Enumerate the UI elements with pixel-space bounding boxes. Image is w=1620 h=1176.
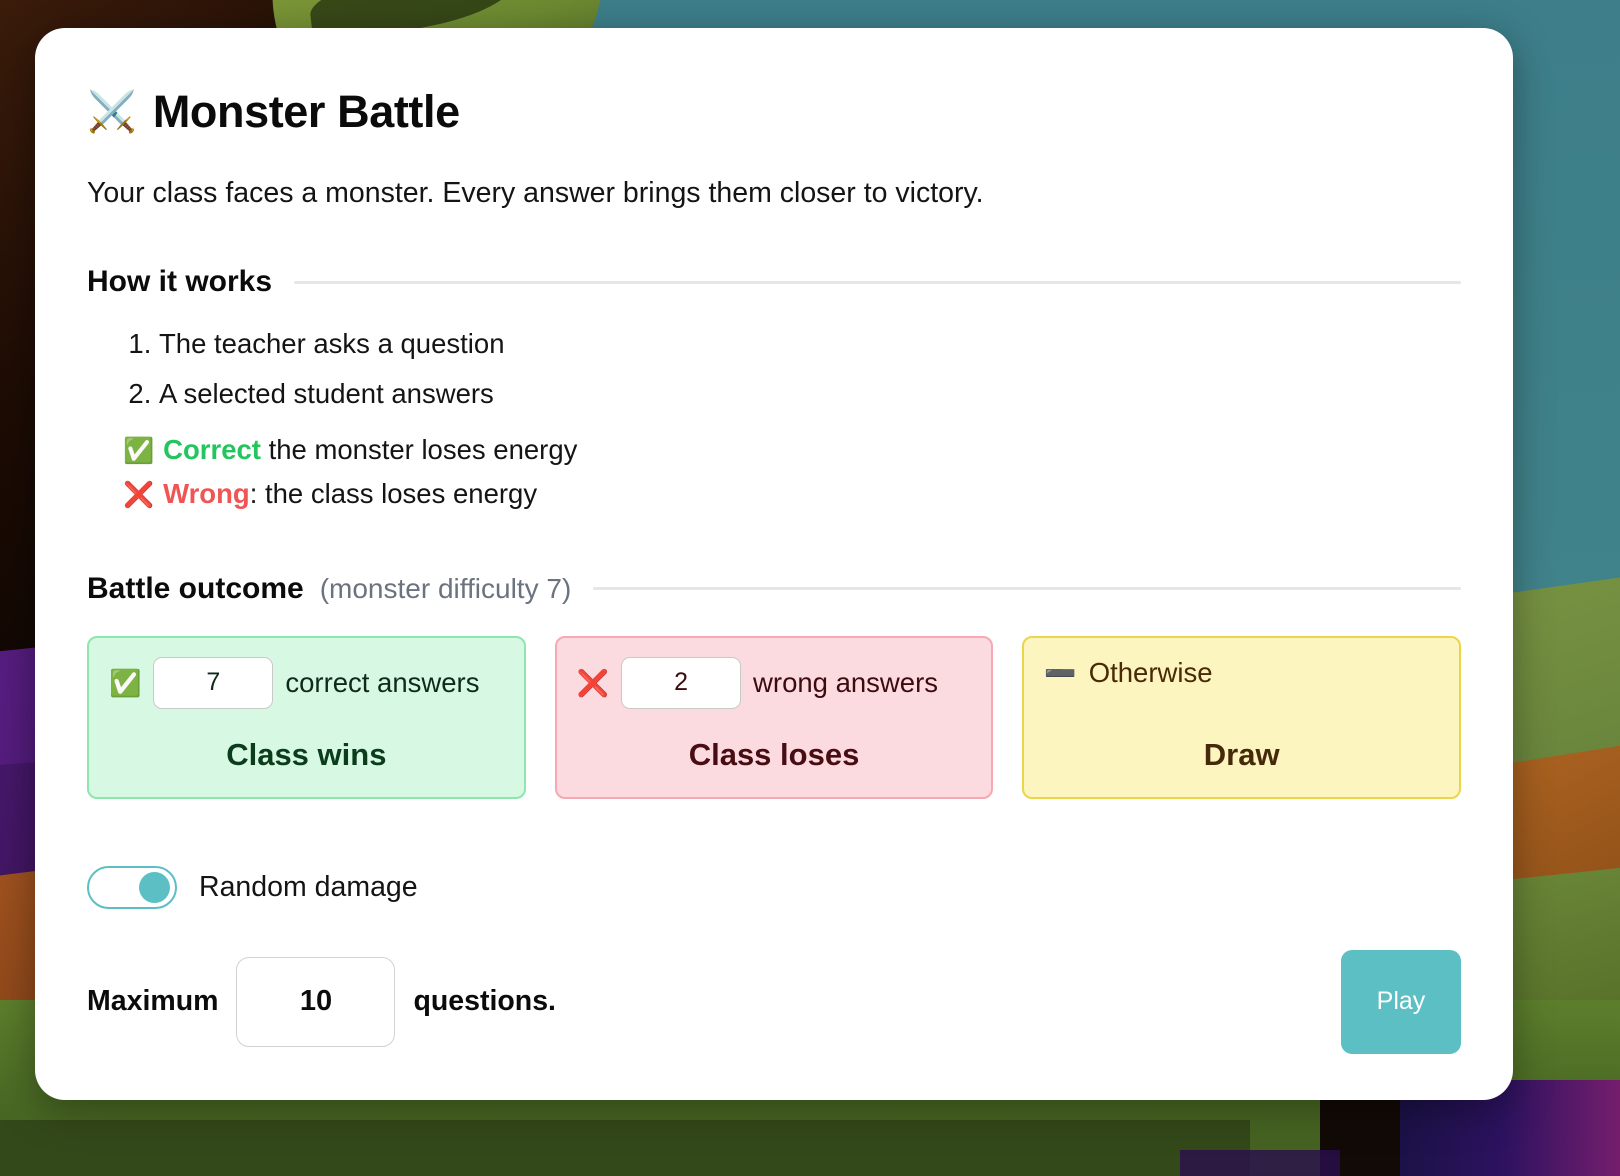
monster-battle-dialog: ⚔️ Monster Battle Your class faces a mon…: [35, 28, 1513, 1100]
card-condition-row: ➖ Otherwise: [1044, 657, 1439, 689]
wrong-answers-input[interactable]: [621, 657, 741, 709]
wrong-answers-label: wrong answers: [753, 667, 938, 699]
random-damage-label: Random damage: [199, 871, 418, 904]
cross-mark-icon: ❌: [123, 475, 154, 516]
correct-keyword: Correct: [163, 434, 261, 465]
draw-result-text: Draw: [1044, 723, 1439, 773]
check-mark-icon: ✅: [109, 670, 141, 696]
battle-outcome-header: Battle outcome (monster difficulty 7): [87, 572, 1461, 606]
dialog-title-row: ⚔️ Monster Battle: [87, 86, 1461, 138]
play-button[interactable]: Play: [1341, 950, 1461, 1054]
how-it-works-header: How it works: [87, 265, 1461, 299]
background-grass-shadow: [0, 1120, 1250, 1176]
win-result-text: Class wins: [109, 723, 504, 773]
correct-rule-text: the monster loses energy: [261, 434, 577, 465]
background-purple-corner-left: [1180, 1150, 1340, 1176]
outcome-cards: ✅ correct answers Class wins ❌ wrong ans…: [87, 636, 1461, 799]
correct-answers-label: correct answers: [285, 667, 479, 699]
section-divider: [294, 281, 1461, 284]
card-condition-row: ✅ correct answers: [109, 657, 504, 709]
outcome-card-lose: ❌ wrong answers Class loses: [555, 636, 994, 799]
list-item: A selected student answers: [159, 377, 1461, 411]
random-damage-row: Random damage: [87, 866, 1461, 909]
crossed-swords-icon: ⚔️: [87, 92, 137, 132]
cross-mark-icon: ❌: [577, 670, 609, 696]
wrong-rule-line: ❌ Wrong: the class loses energy: [123, 472, 1461, 517]
battle-outcome-title: Battle outcome: [87, 572, 304, 606]
card-condition-row: ❌ wrong answers: [577, 657, 972, 709]
random-damage-toggle[interactable]: [87, 866, 177, 909]
page-title: Monster Battle: [153, 86, 460, 138]
wrong-rule-text: : the class loses energy: [250, 478, 537, 509]
correct-answers-input[interactable]: [153, 657, 273, 709]
monster-difficulty-note: (monster difficulty 7): [320, 573, 572, 605]
lose-result-text: Class loses: [577, 723, 972, 773]
list-item: The teacher asks a question: [159, 327, 1461, 361]
max-questions-input[interactable]: [236, 957, 395, 1047]
maximum-label: Maximum: [87, 985, 218, 1018]
section-divider: [593, 587, 1461, 590]
otherwise-label: Otherwise: [1089, 657, 1213, 689]
outcome-card-win: ✅ correct answers Class wins: [87, 636, 526, 799]
outcome-card-draw: ➖ Otherwise Draw: [1022, 636, 1461, 799]
minus-sign-icon: ➖: [1044, 660, 1076, 686]
max-questions-row: Maximum questions. Play: [87, 950, 1461, 1054]
correct-rule-line: ✅ Correct the monster loses energy: [123, 428, 1461, 473]
wrong-keyword: Wrong: [163, 478, 250, 509]
toggle-knob: [139, 872, 170, 903]
dialog-subtitle: Your class faces a monster. Every answer…: [87, 177, 1461, 210]
check-mark-icon: ✅: [123, 431, 154, 472]
how-it-works-title: How it works: [87, 265, 272, 299]
how-it-works-steps: The teacher asks a question A selected s…: [133, 327, 1461, 412]
questions-label: questions.: [413, 985, 556, 1018]
